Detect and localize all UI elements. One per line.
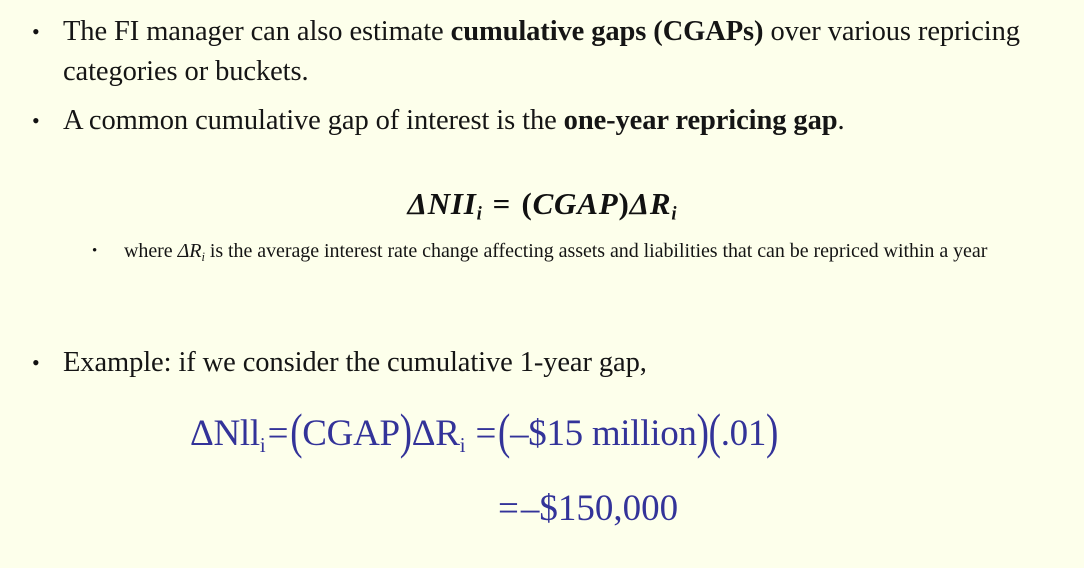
eq-nll-var: Nll (214, 413, 260, 454)
formula-close-paren: ) (618, 186, 629, 221)
formula-nii-definition: ΔNIIi = (CGAP)ΔRi (0, 186, 1084, 226)
sub-bullet-delta-symbol: Δ (178, 240, 190, 262)
eq-cgap-value: –$15 million (510, 413, 697, 454)
worked-example-equation-line-1: ΔNlli=(CGAP)ΔRi=(–$15 million)(.01) (190, 412, 778, 468)
bullet-2-lead: A common cumulative gap of interest is t… (63, 105, 564, 136)
sub-bullet-marker-icon: • (92, 238, 124, 265)
slide-canvas: • The FI manager can also estimate cumul… (0, 0, 1084, 568)
eq-r-var: R (435, 413, 459, 454)
formula-delta-symbol-2: Δ (630, 186, 650, 221)
bullet-1-emphasis: cumulative gaps (CGAPs) (451, 16, 764, 47)
formula-equals: = (490, 186, 512, 221)
sub-bullet-r-var: R (189, 240, 201, 262)
bullet-marker-icon: • (30, 12, 63, 52)
bullet-2-tail: . (837, 105, 844, 136)
list-item: • Example: if we consider the cumulative… (30, 343, 1040, 383)
bullet-text-1: The FI manager can also estimate cumulat… (63, 12, 1040, 92)
bullet-1-lead: The FI manager can also estimate (63, 16, 451, 47)
eq-delta-symbol-2: Δ (412, 413, 436, 454)
eq-rate-value: .01 (721, 413, 766, 454)
eq-nll-subscript: i (260, 435, 266, 457)
formula-r-var: R (650, 186, 671, 221)
eq-close-paren-1: ) (400, 404, 412, 463)
sub-bullet-lead: where (124, 240, 178, 262)
sub-bullet-tail: is the average interest rate change affe… (205, 240, 987, 262)
eq-open-paren-1: ( (290, 404, 302, 463)
eq-open-paren-2: ( (498, 404, 510, 463)
eq-cgap-term: CGAP (302, 413, 400, 454)
bullet-marker-icon: • (30, 343, 63, 383)
sub-bullet-text: where ΔRi is the average interest rate c… (124, 238, 987, 271)
bullet-marker-icon: • (30, 101, 63, 141)
eq-equals-1: = (266, 413, 291, 454)
formula-delta-nii: ΔNIIi (408, 186, 482, 221)
eq-delta-symbol: Δ (190, 413, 214, 454)
bullet-2-emphasis: one-year repricing gap (564, 105, 838, 136)
formula-delta-symbol: Δ (408, 186, 428, 221)
eq-result-value: –$150,000 (521, 488, 678, 529)
sub-list-item: • where ΔRi is the average interest rate… (92, 238, 1052, 271)
eq-equals-3: = (496, 488, 521, 529)
eq-close-paren-2: ) (697, 404, 709, 463)
formula-r-subscript: i (671, 204, 676, 225)
eq-equals-2: = (465, 413, 498, 454)
eq-open-paren-3: ( (709, 404, 721, 463)
eq-close-paren-3: ) (766, 404, 778, 463)
bullet-text-2: A common cumulative gap of interest is t… (63, 101, 845, 141)
formula-cgap-term: CGAP (533, 186, 619, 221)
list-item: • The FI manager can also estimate cumul… (30, 12, 1040, 92)
worked-example-equation-line-2: =–$150,000 (0, 487, 1084, 531)
formula-nii-var: NII (428, 186, 477, 221)
bullet-text-3: Example: if we consider the cumulative 1… (63, 343, 647, 383)
list-item: • A common cumulative gap of interest is… (30, 101, 1040, 141)
formula-nii-subscript: i (477, 204, 482, 225)
formula-open-paren: ( (521, 186, 532, 221)
